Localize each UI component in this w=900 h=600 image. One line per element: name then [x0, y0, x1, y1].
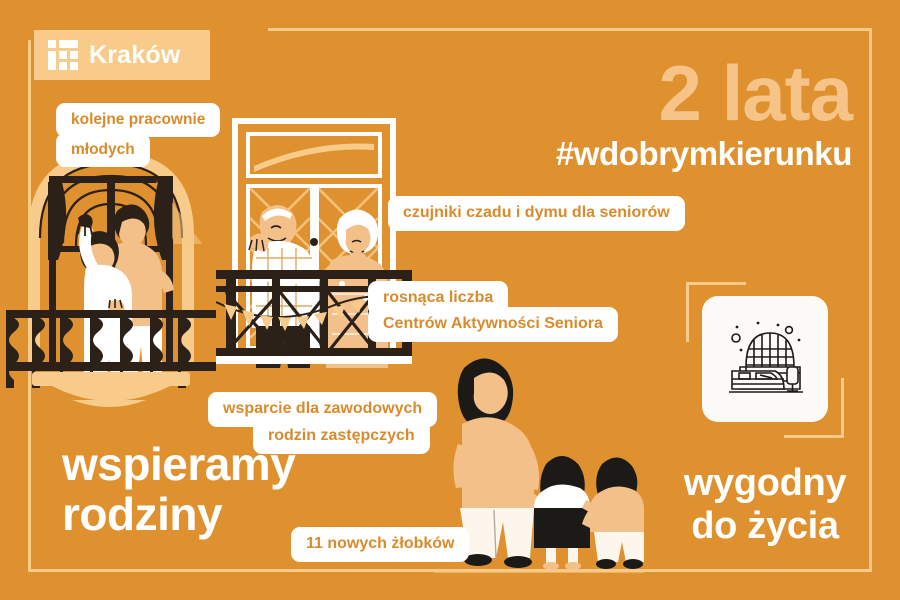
headline-right-line1: wygodny: [660, 462, 870, 505]
train-station-icon: [715, 309, 815, 409]
train-station-card: [702, 296, 828, 422]
page-title: 2 lata: [556, 58, 852, 130]
headline-left: wspieramy rodziny: [62, 440, 295, 539]
callout-czujniki-seniorzy: czujniki czadu i dymu dla seniorów: [388, 196, 685, 231]
headline-right: wygodny do życia: [660, 462, 870, 547]
krakow-grid-logo-icon: [48, 40, 78, 70]
callout-zlobki: 11 nowych żłobków: [291, 527, 469, 562]
headline-left-line2: rodziny: [62, 490, 295, 540]
title-block: 2 lata #wdobrymkierunku: [556, 58, 852, 172]
campaign-hashtag: #wdobrymkierunku: [556, 136, 852, 172]
callout-cas-line2: Centrów Aktywności Seniora: [368, 307, 618, 342]
callout-rodziny-zastepcze-line2: rodzin zastępczych: [253, 419, 430, 454]
brand-bar: Kraków: [34, 30, 210, 80]
brand-name: Kraków: [89, 43, 181, 68]
headline-right-line2: do życia: [660, 505, 870, 548]
infographic-canvas: Kraków 2 lata #wdobrymkierunku kolejne p…: [0, 0, 900, 600]
callout-pracownie-mlodych-line2: młodych: [56, 133, 150, 167]
